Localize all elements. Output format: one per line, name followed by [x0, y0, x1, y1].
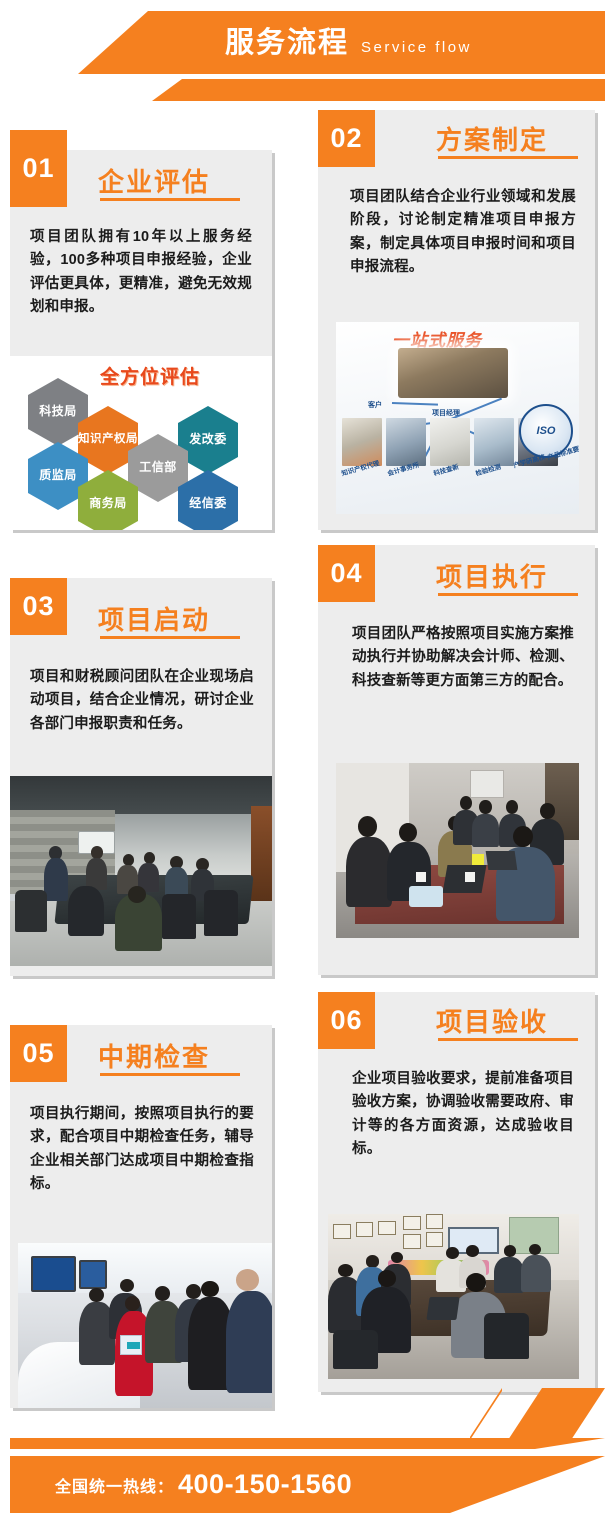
process-card-03: 03 项目启动 项目和财税顾问团队在企业现场启动项目，结合企业情况，研讨企业各部…: [10, 578, 272, 976]
title-underline: [438, 593, 578, 596]
process-card-04: 04 项目执行 项目团队严格按照项目实施方案推动执行并协助解决会计师、检测、科技…: [318, 545, 595, 975]
card-title: 项目启动: [98, 600, 210, 637]
page-subtitle: Service flow: [361, 39, 472, 56]
card-title: 中期检查: [98, 1037, 210, 1074]
page-footer: 全国统一热线： 400-150-1560: [0, 1428, 605, 1538]
thumb-accounting: [386, 418, 426, 466]
thumb-inspection: [474, 418, 514, 466]
hex-label: 工信部: [139, 461, 177, 475]
hex-label: 科技局: [39, 405, 77, 419]
arrow-line: [392, 402, 438, 406]
title-underline: [438, 1038, 578, 1041]
thumb-tech-search: [430, 418, 470, 466]
hex-label: 商务局: [89, 497, 127, 511]
card-photo-meeting-room: [10, 776, 272, 966]
step-number-badge: 06: [318, 992, 375, 1049]
hero-meeting-photo: [398, 348, 508, 398]
card-photo-team-working: [336, 763, 579, 938]
hexagon-diagram-title: 全方位评估: [100, 362, 200, 389]
step-number-badge: 02: [318, 110, 375, 167]
title-underline: [100, 1073, 240, 1076]
hexagon-diagram: 全方位评估 科技局 知识产权局 发改委 质监局 工信部 商务局 经信委: [10, 356, 272, 530]
card-photo-boardroom: [328, 1214, 579, 1379]
process-card-01: 01 企业评估 项目团队拥有10年以上服务经验，100多种项目申报经验，企业评估…: [10, 150, 272, 530]
card-body-text: 项目执行期间，按照项目执行的要求，配合项目中期检查任务，辅导企业相关部门达成项目…: [30, 1103, 254, 1197]
card-body-text: 项目和财税顾问团队在企业现场启动项目，结合企业情况，研讨企业各部门申报职责和任务…: [30, 666, 254, 736]
card-title: 项目执行: [436, 557, 548, 594]
card-body-text: 项目团队拥有10年以上服务经验，100多种项目申报经验，企业评估更具体，更精准，…: [30, 226, 252, 320]
label-customer: 客户: [368, 400, 382, 410]
card-body-text: 项目团队严格按照项目实施方案推动执行并协助解决会计师、检测、科技查新等更方面第三…: [352, 623, 574, 693]
footer-hotline-group: 全国统一热线： 400-150-1560: [55, 1456, 352, 1513]
card-body-text: 项目团队结合企业行业领域和发展阶段，讨论制定精准项目申报方案，制定具体项目申报时…: [350, 186, 576, 280]
step-number-badge: 05: [10, 1025, 67, 1082]
header-title-group: 服务流程 Service flow: [225, 22, 472, 64]
title-underline: [100, 198, 240, 201]
hex-label: 经信委: [189, 497, 227, 511]
step-number-badge: 03: [10, 578, 67, 635]
one-stop-service-diagram: 一站式服务 客户 项目经理 ISO 知识产权代理 会计事务所 科技查新 检验检测…: [336, 322, 579, 514]
page-title: 服务流程: [225, 22, 349, 64]
card-title: 项目验收: [436, 1002, 548, 1039]
footer-accent-strip: [10, 1438, 605, 1449]
hex-label: 知识产权局: [78, 433, 138, 446]
card-title: 企业评估: [98, 162, 210, 199]
card-title: 方案制定: [436, 120, 548, 157]
title-underline: [438, 156, 578, 159]
process-card-02: 02 方案制定 项目团队结合企业行业领域和发展阶段，讨论制定精准项目申报方案，制…: [318, 110, 595, 530]
hex-label: 发改委: [189, 433, 227, 447]
process-card-06: 06 项目验收 企业项目验收要求，提前准备项目验收方案，协调验收需要政府、审计等…: [318, 992, 595, 1392]
card-photo-site-visit: [18, 1243, 272, 1408]
process-card-05: 05 中期检查 项目执行期间，按照项目执行的要求，配合项目中期检查任务，辅导企业…: [10, 1025, 272, 1408]
page-header: 服务流程 Service flow: [0, 0, 605, 110]
step-number-badge: 04: [318, 545, 375, 602]
title-underline: [100, 636, 240, 639]
hotline-number: 400-150-1560: [178, 1469, 352, 1500]
step-number-badge: 01: [10, 130, 67, 207]
hex-label: 质监局: [39, 469, 77, 483]
hotline-label: 全国统一热线：: [55, 1473, 174, 1497]
header-band-secondary: [0, 79, 605, 101]
card-body-text: 企业项目验收要求，提前准备项目验收方案，协调验收需要政府、审计等的各方面资源，达…: [352, 1068, 574, 1162]
